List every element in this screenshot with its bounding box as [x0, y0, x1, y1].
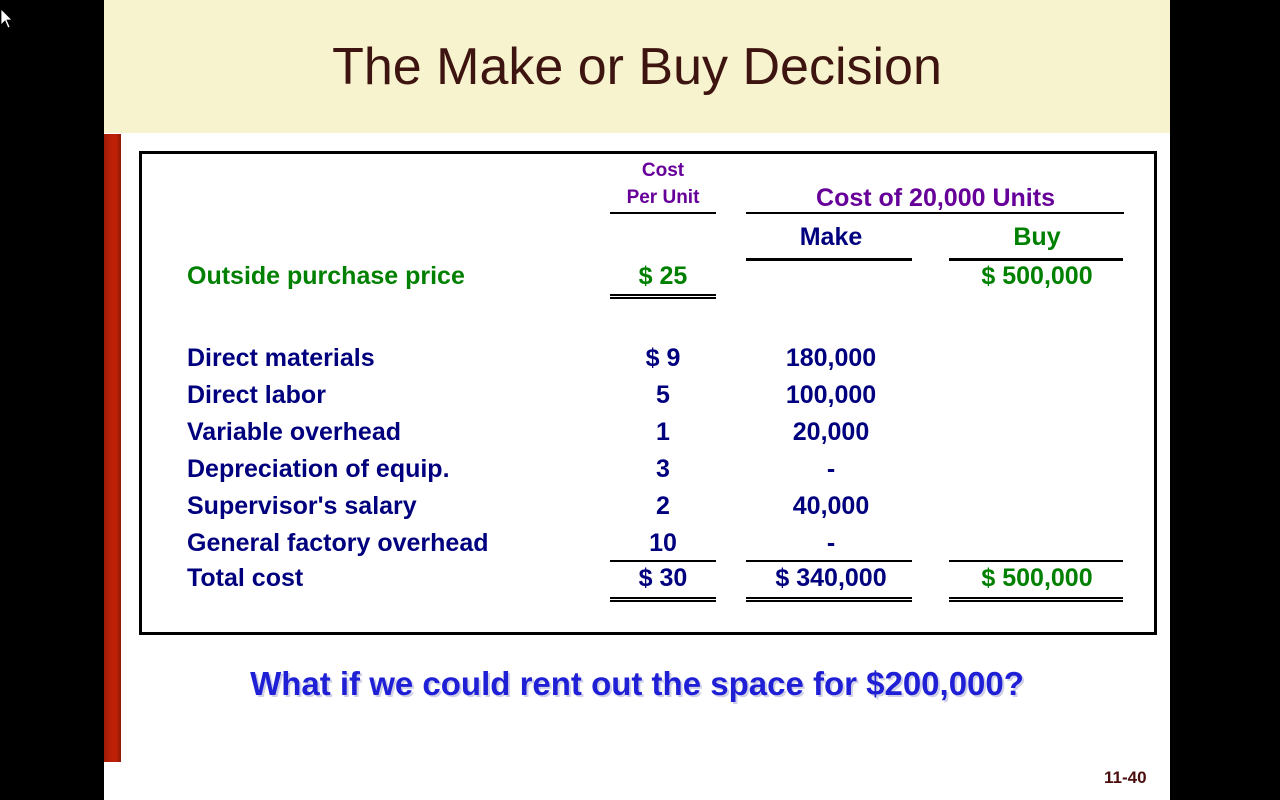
row-buy-outside-purchase-price: $ 500,000 — [951, 262, 1123, 291]
row-per-unit-total-cost: $ 30 — [610, 564, 716, 593]
rule-under-group-title — [746, 212, 1124, 214]
rule-under-per-unit — [610, 212, 716, 214]
rule-under-make — [746, 258, 912, 261]
header-cost-line2: Per Unit — [610, 187, 716, 209]
header-make: Make — [748, 223, 914, 252]
row-make-direct-materials: 180,000 — [748, 344, 914, 373]
row-per-unit-general-factory-overhead: 10 — [610, 529, 716, 558]
row-label-general-factory-overhead: General factory overhead — [187, 529, 587, 558]
row-make-supervisors-salary: 40,000 — [748, 492, 914, 521]
slide-viewer: The Make or Buy Decision Cost Per Unit C… — [0, 0, 1280, 800]
rule-double-total-buy — [949, 597, 1123, 602]
row-make-direct-labor: 100,000 — [748, 381, 914, 410]
row-per-unit-supervisors-salary: 2 — [610, 492, 716, 521]
rule-above-total-make — [746, 560, 912, 562]
header-cost-line1: Cost — [610, 160, 716, 182]
row-per-unit-variable-overhead: 1 — [610, 418, 716, 447]
mouse-cursor-icon — [0, 8, 14, 30]
row-make-total-cost: $ 340,000 — [748, 564, 914, 593]
row-per-unit-direct-materials: $ 9 — [610, 344, 716, 373]
rule-above-total-per-unit — [610, 560, 716, 562]
row-label-variable-overhead: Variable overhead — [187, 418, 587, 447]
row-per-unit-direct-labor: 5 — [610, 381, 716, 410]
row-make-depreciation-of-equip: - — [748, 455, 914, 484]
rule-under-buy — [949, 258, 1123, 261]
row-label-direct-labor: Direct labor — [187, 381, 587, 410]
row-buy-total-cost: $ 500,000 — [951, 564, 1123, 593]
row-per-unit-depreciation-of-equip: 3 — [610, 455, 716, 484]
rule-above-total-buy — [949, 560, 1123, 562]
row-label-total-cost: Total cost — [187, 564, 587, 593]
closing-question: What if we could rent out the space for … — [104, 665, 1170, 703]
page-number: 11-40 — [1104, 768, 1174, 788]
rule-double-outside-purchase-price — [610, 294, 716, 299]
row-label-depreciation-of-equip: Depreciation of equip. — [187, 455, 587, 484]
row-label-supervisors-salary: Supervisor's salary — [187, 492, 587, 521]
presentation-slide: The Make or Buy Decision Cost Per Unit C… — [104, 0, 1170, 800]
page-title: The Make or Buy Decision — [104, 0, 1170, 133]
row-label-direct-materials: Direct materials — [187, 344, 587, 373]
header-group-title: Cost of 20,000 Units — [748, 184, 1123, 213]
row-make-general-factory-overhead: - — [748, 529, 914, 558]
row-make-variable-overhead: 20,000 — [748, 418, 914, 447]
row-per-unit-outside-purchase-price: $ 25 — [610, 262, 716, 291]
rule-double-total-make — [746, 597, 912, 602]
cost-comparison-table: Cost Per Unit Cost of 20,000 Units Make … — [139, 151, 1157, 635]
header-buy: Buy — [951, 223, 1123, 252]
row-label-outside-purchase-price: Outside purchase price — [187, 262, 587, 291]
rule-double-total-per-unit — [610, 597, 716, 602]
